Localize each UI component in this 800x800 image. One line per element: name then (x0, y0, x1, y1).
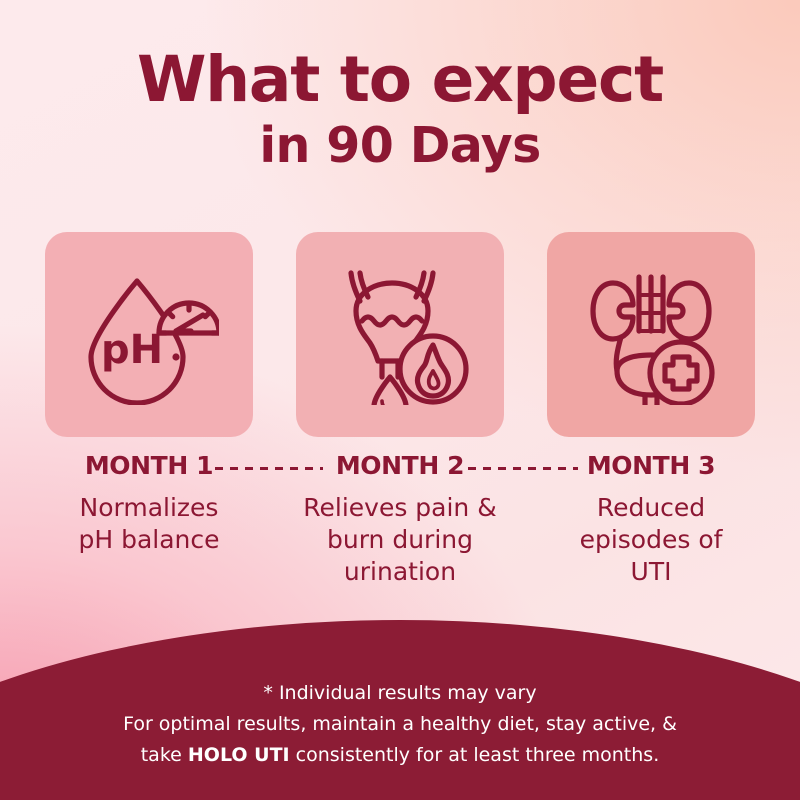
footer-line-2: For optimal results, maintain a healthy … (0, 709, 800, 740)
footer-line-1: * Individual results may vary (0, 678, 800, 709)
step-description-2: Relieves pain & burn during urination (303, 492, 496, 588)
kidneys-medical-cross-icon (581, 265, 721, 405)
month-label-3: MONTH 3 (587, 451, 715, 480)
timeline-step-month-2: MONTH 2 Relieves pain & burn during urin… (296, 232, 504, 588)
footer-line-3: take HOLO UTI consistently for at least … (0, 740, 800, 771)
icon-card-month-2 (296, 232, 504, 437)
infographic-poster: What to expect in 90 Days (0, 0, 800, 800)
svg-text:pH: pH (101, 327, 163, 373)
month-label-2: MONTH 2 (336, 451, 464, 480)
step-description-3: Reduced episodes of UTI (580, 492, 723, 588)
icon-card-month-1: pH (45, 232, 253, 437)
month-label-1: MONTH 1 (85, 451, 213, 480)
title-line-2: in 90 Days (0, 121, 800, 170)
title-line-1: What to expect (0, 48, 800, 111)
bladder-burning-icon (330, 265, 470, 405)
page-title: What to expect in 90 Days (0, 48, 800, 170)
footer-line-3-before: take (141, 744, 188, 766)
dashed-connector-2 (468, 467, 578, 470)
dashed-connector-1 (215, 467, 323, 470)
footer-line-3-after: consistently for at least three months. (290, 744, 660, 766)
ph-droplet-gauge-icon: pH (79, 265, 219, 405)
step-description-1: Normalizes pH balance (78, 492, 219, 556)
footer-disclaimer: * Individual results may vary For optima… (0, 678, 800, 770)
icon-card-month-3 (547, 232, 755, 437)
timeline: pH MONTH 1 Normalizes pH balance (45, 232, 755, 588)
timeline-step-month-3: MONTH 3 Reduced episodes of UTI (547, 232, 755, 588)
timeline-step-month-1: pH MONTH 1 Normalizes pH balance (45, 232, 253, 588)
brand-name: HOLO UTI (188, 744, 290, 766)
